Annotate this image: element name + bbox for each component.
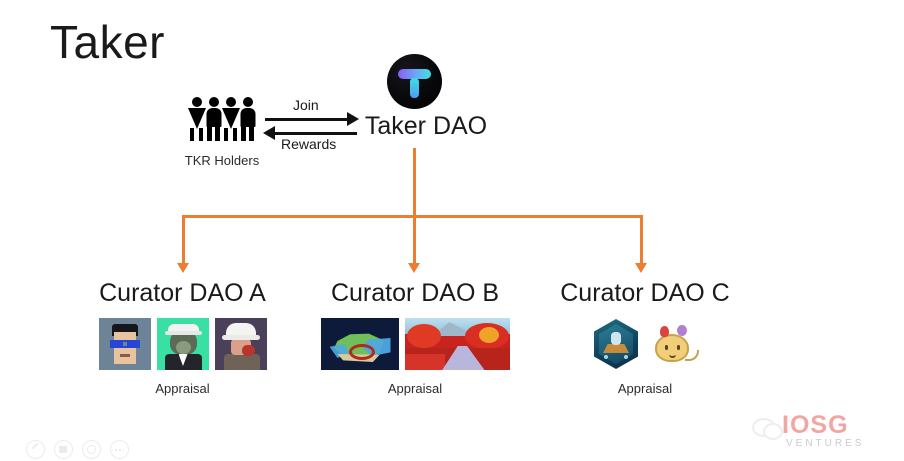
arrow-head-icon-a	[177, 263, 189, 273]
join-arrow-line	[265, 118, 349, 121]
curator-dao-a-appraisal-label: Appraisal	[35, 381, 330, 396]
people-group-icon	[182, 96, 262, 141]
curator-dao-a: Curator DAO A Appraisal	[35, 278, 330, 396]
iosg-watermark: IOSG VENTURES	[752, 410, 900, 454]
arrow-head-icon-b	[408, 263, 420, 273]
exchange-arrows: Join Rewards	[265, 101, 360, 149]
curator-dao-c-thumbnails	[520, 318, 770, 370]
bucket-hat-avatar-thumbnail[interactable]	[215, 318, 267, 370]
tkr-holders-label: TKR Holders	[160, 153, 284, 168]
axie-creature-thumbnail[interactable]	[647, 318, 699, 370]
wechat-icon	[752, 414, 782, 438]
metaverse-land-thumbnail[interactable]	[321, 318, 399, 370]
curator-dao-a-thumbnails	[35, 318, 330, 370]
curator-dao-b-thumbnails	[290, 318, 540, 370]
hexagon-badge-thumbnail[interactable]	[591, 318, 641, 370]
connector-drop-c	[640, 217, 643, 265]
curator-dao-b-appraisal-label: Appraisal	[290, 381, 540, 396]
curator-dao-c: Curator DAO C Appraisal	[520, 278, 770, 396]
curator-dao-c-appraisal-label: Appraisal	[520, 381, 770, 396]
rewards-arrow-line	[273, 132, 357, 135]
more-icon[interactable]	[110, 440, 129, 459]
watermark-brand: IOSG	[782, 410, 849, 440]
stamp-icon[interactable]	[54, 440, 73, 459]
rewards-arrow-head-icon	[263, 126, 275, 140]
bored-ape-thumbnail[interactable]	[157, 318, 209, 370]
curator-dao-b-title: Curator DAO B	[290, 278, 540, 308]
connector-drop-b	[413, 217, 416, 265]
zoom-icon[interactable]	[82, 440, 101, 459]
taker-dao-label: Taker DAO	[356, 112, 496, 141]
watermark-sub: VENTURES	[786, 438, 864, 449]
tkr-holders-group: TKR Holders	[182, 96, 262, 168]
page-title: Taker	[50, 14, 165, 70]
autumn-landscape-painting-thumbnail[interactable]	[405, 318, 510, 370]
connector-trunk	[413, 148, 416, 218]
slide-canvas: Taker TKR Holders Join Rewards Taker DAO…	[0, 0, 904, 461]
curator-dao-b: Curator DAO B Appraisal	[290, 278, 540, 396]
pen-icon[interactable]	[26, 440, 45, 459]
curator-dao-c-title: Curator DAO C	[520, 278, 770, 308]
annotation-toolbar[interactable]	[26, 440, 129, 459]
rewards-label: Rewards	[281, 136, 336, 152]
connector-drop-a	[182, 217, 185, 265]
taker-logo-icon	[387, 54, 442, 109]
arrow-head-icon-c	[635, 263, 647, 273]
join-label: Join	[293, 97, 319, 113]
curator-dao-a-title: Curator DAO A	[35, 278, 330, 308]
cryptopunk-thumbnail[interactable]	[99, 318, 151, 370]
